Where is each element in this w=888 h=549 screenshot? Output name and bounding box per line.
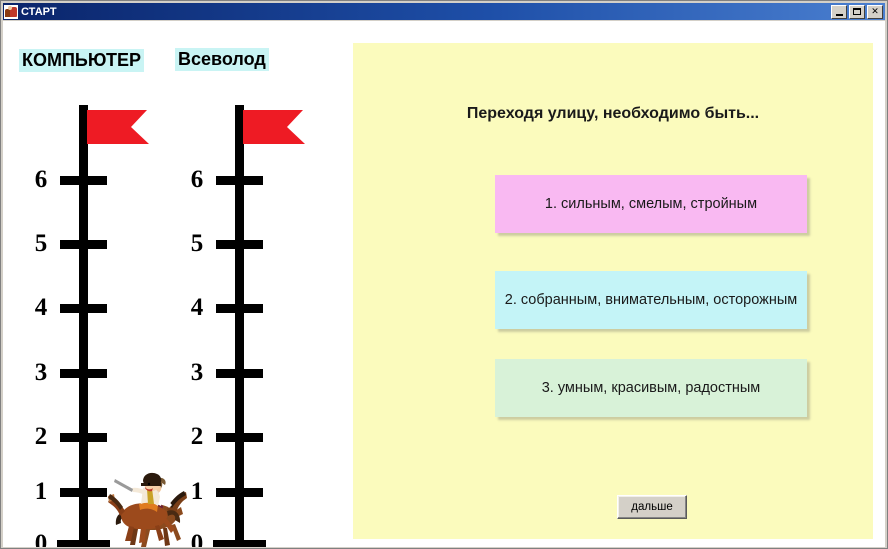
scale-label-2: 2 [28, 424, 54, 449]
answer-option-2[interactable]: 2. собранным, внимательным, осторожным [495, 271, 807, 329]
ladder-rung-1 [60, 488, 107, 497]
ladder-rung-4 [60, 304, 107, 313]
scale-label-0: 0 [28, 531, 54, 547]
ladder-rung-5 [60, 240, 107, 249]
window-title: СТАРТ [21, 6, 57, 18]
score-ladder-human: 6 5 4 3 2 1 0 [181, 105, 301, 547]
ladder-rung-4 [216, 304, 263, 313]
player-name-computer: КОМПЬЮТЕР [19, 49, 144, 72]
ladder-rung-5 [216, 240, 263, 249]
scale-label-5: 5 [184, 231, 210, 256]
app-icon [4, 5, 18, 19]
flag-icon [243, 107, 307, 147]
player-token-human [103, 471, 187, 545]
window-controls: ✕ [831, 5, 885, 19]
next-button[interactable]: дальше [617, 495, 687, 519]
scale-label-3: 3 [184, 360, 210, 385]
scale-label-3: 3 [28, 360, 54, 385]
ladder-rung-3 [216, 369, 263, 378]
answer-option-1[interactable]: 1. сильным, смелым, стройным [495, 175, 807, 233]
scale-label-4: 4 [184, 295, 210, 320]
ladder-pole [79, 105, 88, 547]
player-name-human: Всеволод [175, 48, 269, 71]
application-window: СТАРТ ✕ КОМПЬЮТЕР Всеволод [0, 0, 888, 549]
ladder-rung-0 [213, 540, 266, 547]
ladder-rung-6 [60, 176, 107, 185]
question-panel: Переходя улицу, необходимо быть... 1. си… [353, 43, 873, 539]
ladder-pole [235, 105, 244, 547]
answer-option-3[interactable]: 3. умным, красивым, радостным [495, 359, 807, 417]
maximize-button[interactable] [849, 5, 865, 19]
scale-label-1: 1 [28, 479, 54, 504]
ladder-rung-2 [216, 433, 263, 442]
client-area: КОМПЬЮТЕР Всеволод 6 5 4 3 2 1 0 [3, 21, 885, 547]
scale-label-4: 4 [28, 295, 54, 320]
scale-label-2: 2 [184, 424, 210, 449]
ladder-rung-3 [60, 369, 107, 378]
scale-label-6: 6 [28, 167, 54, 192]
close-button[interactable]: ✕ [867, 5, 883, 19]
title-bar[interactable]: СТАРТ ✕ [3, 3, 885, 20]
ladder-rung-6 [216, 176, 263, 185]
question-text: Переходя улицу, необходимо быть... [353, 105, 873, 123]
minimize-button[interactable] [831, 5, 847, 19]
scale-label-5: 5 [28, 231, 54, 256]
scale-label-6: 6 [184, 167, 210, 192]
close-icon: ✕ [868, 6, 882, 18]
ladder-rung-2 [60, 433, 107, 442]
ladder-rung-1 [216, 488, 263, 497]
flag-icon [87, 107, 151, 147]
